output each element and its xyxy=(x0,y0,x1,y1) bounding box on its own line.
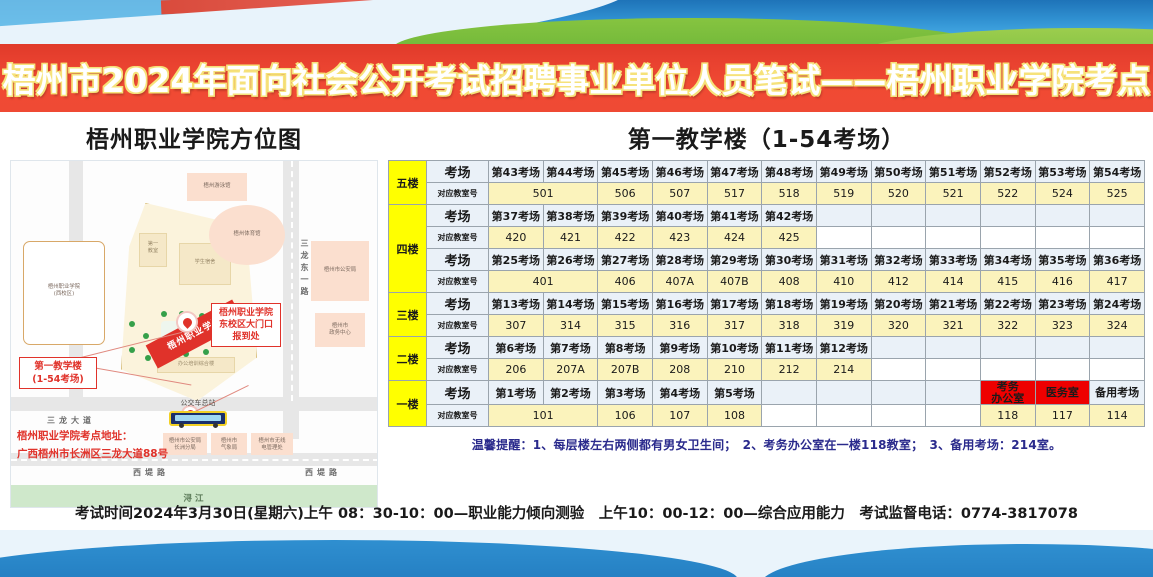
classroom-number-cell: 320 xyxy=(871,315,926,337)
schedule-note: 温馨提醒：1、每层楼左右两侧都有男女卫生间； 2、考务办公室在一楼118教室； … xyxy=(388,436,1145,453)
page-title-band: 梧州市2024年面向社会公开考试招聘事业单位人员笔试——梧州职业学院考点 xyxy=(0,44,1153,112)
map-title: 梧州职业学院方位图 xyxy=(10,120,378,154)
bus-station-label: 公交车总站 xyxy=(163,399,233,408)
classroom-number-cell: 318 xyxy=(762,315,817,337)
empty-cell xyxy=(1035,337,1090,359)
empty-cell xyxy=(980,227,1035,249)
exam-room-cell: 第46考场 xyxy=(652,161,707,183)
bus-icon xyxy=(169,411,227,426)
tree-icon xyxy=(203,349,209,355)
table-row: 三楼考场第13考场第14考场第15考场第16考场第17考场第18考场第19考场第… xyxy=(389,293,1145,315)
tree-icon xyxy=(161,311,167,317)
exam-room-cell: 第40考场 xyxy=(652,205,707,227)
campus-location-map: 梧州职业学院(西校区) 第一教室 学生宿舍 办公培训综合楼 xyxy=(10,160,378,508)
row-label-exam: 考场 xyxy=(427,205,489,227)
classroom-number-cell: 210 xyxy=(707,359,762,381)
exam-room-cell: 第20考场 xyxy=(871,293,926,315)
exam-room-cell: 第5考场 xyxy=(707,381,762,405)
empty-cell xyxy=(1035,205,1090,227)
exam-room-cell: 第32考场 xyxy=(871,249,926,271)
address-line-2: 广西梧州市长洲区三龙大道88号 xyxy=(17,446,227,463)
tree-icon xyxy=(129,321,135,327)
empty-cell xyxy=(1090,337,1145,359)
classroom-number-cell: 321 xyxy=(926,315,981,337)
empty-cell xyxy=(926,227,981,249)
empty-cell xyxy=(980,205,1035,227)
classroom-number-cell: 420 xyxy=(489,227,544,249)
floor-label-cell: 一楼 xyxy=(389,381,427,427)
classroom-number-cell: 408 xyxy=(762,271,817,293)
empty-cell xyxy=(816,405,871,427)
radio-admin-label: 梧州市无线电管理处 xyxy=(251,438,293,453)
top-decoration-banner xyxy=(0,0,1153,46)
classroom-number-cell: 524 xyxy=(1035,183,1090,205)
exam-room-cell: 第24考场 xyxy=(1090,293,1145,315)
classroom-number-cell: 101 xyxy=(489,405,598,427)
classroom-number-cell: 107 xyxy=(652,405,707,427)
classroom-number-cell: 517 xyxy=(707,183,762,205)
exam-room-cell: 第31考场 xyxy=(816,249,871,271)
exam-room-cell: 第39考场 xyxy=(598,205,653,227)
exam-room-cell: 第28考场 xyxy=(652,249,707,271)
classroom-number-cell: 406 xyxy=(598,271,653,293)
empty-cell xyxy=(871,405,926,427)
empty-cell xyxy=(762,405,817,427)
empty-cell xyxy=(816,227,871,249)
exam-room-cell: 第44考场 xyxy=(543,161,598,183)
classroom-number-cell: 319 xyxy=(816,315,871,337)
classroom-number-cell: 117 xyxy=(1035,405,1090,427)
road-name-xidi-right: 西堤路 xyxy=(305,467,341,478)
exam-room-cell: 第16考场 xyxy=(652,293,707,315)
tree-icon xyxy=(129,347,135,353)
west-campus-label: 梧州职业学院(西校区) xyxy=(24,284,104,299)
empty-cell xyxy=(1090,359,1145,381)
exam-room-cell: 第35考场 xyxy=(1035,249,1090,271)
row-label-exam: 考场 xyxy=(427,293,489,315)
swimming-pool-label: 梧州游泳馆 xyxy=(187,183,247,190)
classroom-number-cell: 425 xyxy=(762,227,817,249)
stadium-block: 梧州体育馆 xyxy=(209,205,285,265)
exam-room-cell: 第25考场 xyxy=(489,249,544,271)
callout-first-teaching-building: 第一教学楼(1-54考场) xyxy=(19,357,97,389)
wave-shape-dark-left xyxy=(0,540,738,577)
table-row: 四楼考场第37考场第38考场第39考场第40考场第41考场第42考场 xyxy=(389,205,1145,227)
exam-room-cell: 第11考场 xyxy=(762,337,817,359)
empty-cell xyxy=(816,205,871,227)
police-bureau-label: 梧州市公安局 xyxy=(311,267,369,274)
exam-room-cell: 第1考场 xyxy=(489,381,544,405)
classroom-number-cell: 317 xyxy=(707,315,762,337)
exam-room-cell: 第10考场 xyxy=(707,337,762,359)
classroom-number-cell: 414 xyxy=(926,271,981,293)
empty-cell xyxy=(762,381,817,405)
empty-cell xyxy=(926,381,981,405)
classroom-number-cell: 214 xyxy=(816,359,871,381)
floor-label-cell: 四楼 xyxy=(389,205,427,293)
empty-cell xyxy=(926,359,981,381)
classroom-number-cell: 525 xyxy=(1090,183,1145,205)
exam-room-cell: 第9考场 xyxy=(652,337,707,359)
classroom-number-cell: 407A xyxy=(652,271,707,293)
classroom-number-cell: 410 xyxy=(816,271,871,293)
road-dash-vertical xyxy=(291,161,293,401)
callout-gate-registration: 梧州职业学院东校区大门口报到处 xyxy=(211,303,281,347)
exam-room-cell: 第49考场 xyxy=(816,161,871,183)
exam-room-cell: 第12考场 xyxy=(816,337,871,359)
table-row: 考场第25考场第26考场第27考场第28考场第29考场第30考场第31考场第32… xyxy=(389,249,1145,271)
classroom-number-cell: 207A xyxy=(543,359,598,381)
floor-label-cell: 二楼 xyxy=(389,337,427,381)
classroom-number-cell: 316 xyxy=(652,315,707,337)
exam-room-cell: 第15考场 xyxy=(598,293,653,315)
classroom-number-cell: 521 xyxy=(926,183,981,205)
classroom-number-cell: 206 xyxy=(489,359,544,381)
classroom-number-cell: 522 xyxy=(980,183,1035,205)
empty-cell xyxy=(871,227,926,249)
exam-room-cell: 第48考场 xyxy=(762,161,817,183)
wave-shape-dark-right xyxy=(761,544,1153,577)
empty-cell xyxy=(926,205,981,227)
content-stage: 梧州职业学院方位图 梧州职业学院(西校区) 第一教室 学生宿舍 办公培训综合楼 xyxy=(0,112,1153,530)
row-label-classroom: 对应教室号 xyxy=(427,359,489,381)
classroom-number-cell: 407B xyxy=(707,271,762,293)
building-dorm-label: 学生宿舍 xyxy=(177,259,233,266)
empty-cell xyxy=(926,405,981,427)
table-row: 对应教室号420421422423424425 xyxy=(389,227,1145,249)
table-row: 对应教室号101106107108118117114 xyxy=(389,405,1145,427)
exam-room-cell: 第22考场 xyxy=(980,293,1035,315)
exam-room-cell: 第42考场 xyxy=(762,205,817,227)
map-panel: 梧州职业学院方位图 梧州职业学院(西校区) 第一教室 学生宿舍 办公培训综合楼 xyxy=(10,120,378,502)
empty-cell xyxy=(980,359,1035,381)
exam-room-cell: 第17考场 xyxy=(707,293,762,315)
west-campus-box: 梧州职业学院(西校区) xyxy=(23,241,105,345)
row-label-classroom: 对应教室号 xyxy=(427,315,489,337)
tree-icon xyxy=(143,333,149,339)
exam-room-cell: 第51考场 xyxy=(926,161,981,183)
exam-room-cell: 第8考场 xyxy=(598,337,653,359)
empty-cell xyxy=(980,337,1035,359)
row-label-exam: 考场 xyxy=(427,381,489,405)
schedule-title: 第一教学楼（1-54考场） xyxy=(388,120,1145,154)
table-row: 对应教室号206207A207B208210212214 xyxy=(389,359,1145,381)
exam-room-cell: 第19考场 xyxy=(816,293,871,315)
road-name-sanlong-east-1: 三龙东一路 xyxy=(299,239,310,299)
empty-cell xyxy=(1090,205,1145,227)
row-label-exam: 考场 xyxy=(427,161,489,183)
gov-center-block: 梧州市政务中心 xyxy=(315,313,365,347)
stadium-label: 梧州体育馆 xyxy=(209,231,285,238)
row-label-classroom: 对应教室号 xyxy=(427,227,489,249)
exam-site-address: 梧州职业学院考点地址： 广西梧州市长洲区三龙大道88号 xyxy=(17,428,227,463)
classroom-number-cell: 106 xyxy=(598,405,653,427)
classroom-number-cell: 118 xyxy=(980,405,1035,427)
row-label-exam: 考场 xyxy=(427,337,489,359)
empty-cell xyxy=(1035,359,1090,381)
page-title: 梧州市2024年面向社会公开考试招聘事业单位人员笔试——梧州职业学院考点 xyxy=(3,54,1151,102)
classroom-number-cell: 424 xyxy=(707,227,762,249)
exam-room-cell: 第6考场 xyxy=(489,337,544,359)
exam-room-cell: 第14考场 xyxy=(543,293,598,315)
exam-room-cell: 第30考场 xyxy=(762,249,817,271)
building-first-classroom-label: 第一教室 xyxy=(131,241,175,255)
exam-room-cell: 第7考场 xyxy=(543,337,598,359)
exam-room-cell: 第34考场 xyxy=(980,249,1035,271)
row-label-exam: 考场 xyxy=(427,249,489,271)
classroom-number-cell: 507 xyxy=(652,183,707,205)
radio-admin-block: 梧州市无线电管理处 xyxy=(251,433,293,455)
empty-cell xyxy=(816,381,871,405)
road-name-sanlong-avenue: 三龙大道 xyxy=(47,415,95,426)
classroom-number-cell: 423 xyxy=(652,227,707,249)
classroom-number-cell: 322 xyxy=(980,315,1035,337)
table-row: 对应教室号30731431531631731831932032132232332… xyxy=(389,315,1145,337)
classroom-number-cell: 518 xyxy=(762,183,817,205)
table-row: 一楼考场第1考场第2考场第3考场第4考场第5考场考务办公室医务室备用考场 xyxy=(389,381,1145,405)
empty-cell xyxy=(871,205,926,227)
exam-room-cell: 第50考场 xyxy=(871,161,926,183)
special-room-cell: 考务办公室 xyxy=(980,381,1035,405)
classroom-number-cell: 417 xyxy=(1090,271,1145,293)
classroom-number-cell: 212 xyxy=(762,359,817,381)
classroom-number-cell: 108 xyxy=(707,405,762,427)
schedule-panel: 第一教学楼（1-54考场） 五楼考场第43考场第44考场第45考场第46考场第4… xyxy=(388,120,1145,502)
location-pin-icon xyxy=(178,313,196,331)
swimming-pool-block: 梧州游泳馆 xyxy=(187,173,247,201)
classroom-number-cell: 520 xyxy=(871,183,926,205)
table-row: 二楼考场第6考场第7考场第8考场第9考场第10考场第11考场第12考场 xyxy=(389,337,1145,359)
row-label-classroom: 对应教室号 xyxy=(427,183,489,205)
exam-room-cell: 第36考场 xyxy=(1090,249,1145,271)
callout-gate-text: 梧州职业学院东校区大门口报到处 xyxy=(219,308,273,342)
classroom-number-cell: 401 xyxy=(489,271,598,293)
exam-room-cell: 第41考场 xyxy=(707,205,762,227)
classroom-number-cell: 506 xyxy=(598,183,653,205)
exam-room-cell: 第38考场 xyxy=(543,205,598,227)
exam-room-cell: 第33考场 xyxy=(926,249,981,271)
exam-room-cell: 第47考场 xyxy=(707,161,762,183)
classroom-number-cell: 501 xyxy=(489,183,598,205)
classroom-number-cell: 208 xyxy=(652,359,707,381)
empty-cell xyxy=(871,337,926,359)
tree-icon xyxy=(145,355,151,361)
bottom-decoration-banner xyxy=(0,530,1153,577)
empty-cell xyxy=(871,359,926,381)
exam-room-cell: 第3考场 xyxy=(598,381,653,405)
classroom-number-cell: 421 xyxy=(543,227,598,249)
address-line-1: 梧州职业学院考点地址： xyxy=(17,428,227,445)
special-room-cell: 医务室 xyxy=(1035,381,1090,405)
exam-room-cell: 第13考场 xyxy=(489,293,544,315)
classroom-number-cell: 324 xyxy=(1090,315,1145,337)
exam-room-cell: 第4考场 xyxy=(652,381,707,405)
row-label-classroom: 对应教室号 xyxy=(427,405,489,427)
classroom-number-cell: 415 xyxy=(980,271,1035,293)
exam-room-cell: 第43考场 xyxy=(489,161,544,183)
police-bureau-block: 梧州市公安局 xyxy=(311,241,369,301)
empty-cell xyxy=(926,337,981,359)
exam-room-cell: 第18考场 xyxy=(762,293,817,315)
exam-room-cell: 第21考场 xyxy=(926,293,981,315)
exam-room-table: 五楼考场第43考场第44考场第45考场第46考场第47考场第48考场第49考场第… xyxy=(388,160,1145,427)
empty-cell xyxy=(871,381,926,405)
table-row: 对应教室号501506507517518519520521522524525 xyxy=(389,183,1145,205)
exam-time-footer: 考试时间2024年3月30日(星期六)上午 08：30-10：00—职业能力倾向… xyxy=(0,502,1153,523)
reserve-room-cell: 备用考场 xyxy=(1090,381,1145,405)
floor-label-cell: 五楼 xyxy=(389,161,427,205)
classroom-number-cell: 412 xyxy=(871,271,926,293)
empty-cell xyxy=(1090,227,1145,249)
exam-room-cell: 第45考场 xyxy=(598,161,653,183)
exam-room-table-body: 五楼考场第43考场第44考场第45考场第46考场第47考场第48考场第49考场第… xyxy=(389,161,1145,427)
exam-room-cell: 第27考场 xyxy=(598,249,653,271)
empty-cell xyxy=(1035,227,1090,249)
classroom-number-cell: 519 xyxy=(816,183,871,205)
exam-room-cell: 第29考场 xyxy=(707,249,762,271)
exam-room-cell: 第52考场 xyxy=(980,161,1035,183)
classroom-number-cell: 323 xyxy=(1035,315,1090,337)
classroom-number-cell: 307 xyxy=(489,315,544,337)
classroom-number-cell: 114 xyxy=(1090,405,1145,427)
classroom-number-cell: 207B xyxy=(598,359,653,381)
floor-label-cell: 三楼 xyxy=(389,293,427,337)
exam-room-cell: 第54考场 xyxy=(1090,161,1145,183)
exam-room-cell: 第26考场 xyxy=(543,249,598,271)
callout-building-text: 第一教学楼(1-54考场) xyxy=(32,361,83,385)
classroom-number-cell: 416 xyxy=(1035,271,1090,293)
exam-room-cell: 第2考场 xyxy=(543,381,598,405)
classroom-number-cell: 315 xyxy=(598,315,653,337)
exam-room-cell: 第23考场 xyxy=(1035,293,1090,315)
row-label-classroom: 对应教室号 xyxy=(427,271,489,293)
classroom-number-cell: 422 xyxy=(598,227,653,249)
table-row: 对应教室号401406407A407B408410412414415416417 xyxy=(389,271,1145,293)
table-row: 五楼考场第43考场第44考场第45考场第46考场第47考场第48考场第49考场第… xyxy=(389,161,1145,183)
gov-center-label: 梧州市政务中心 xyxy=(315,323,365,338)
exam-room-cell: 第53考场 xyxy=(1035,161,1090,183)
exam-room-cell: 第37考场 xyxy=(489,205,544,227)
classroom-number-cell: 314 xyxy=(543,315,598,337)
road-name-xidi-left: 西堤路 xyxy=(133,467,169,478)
